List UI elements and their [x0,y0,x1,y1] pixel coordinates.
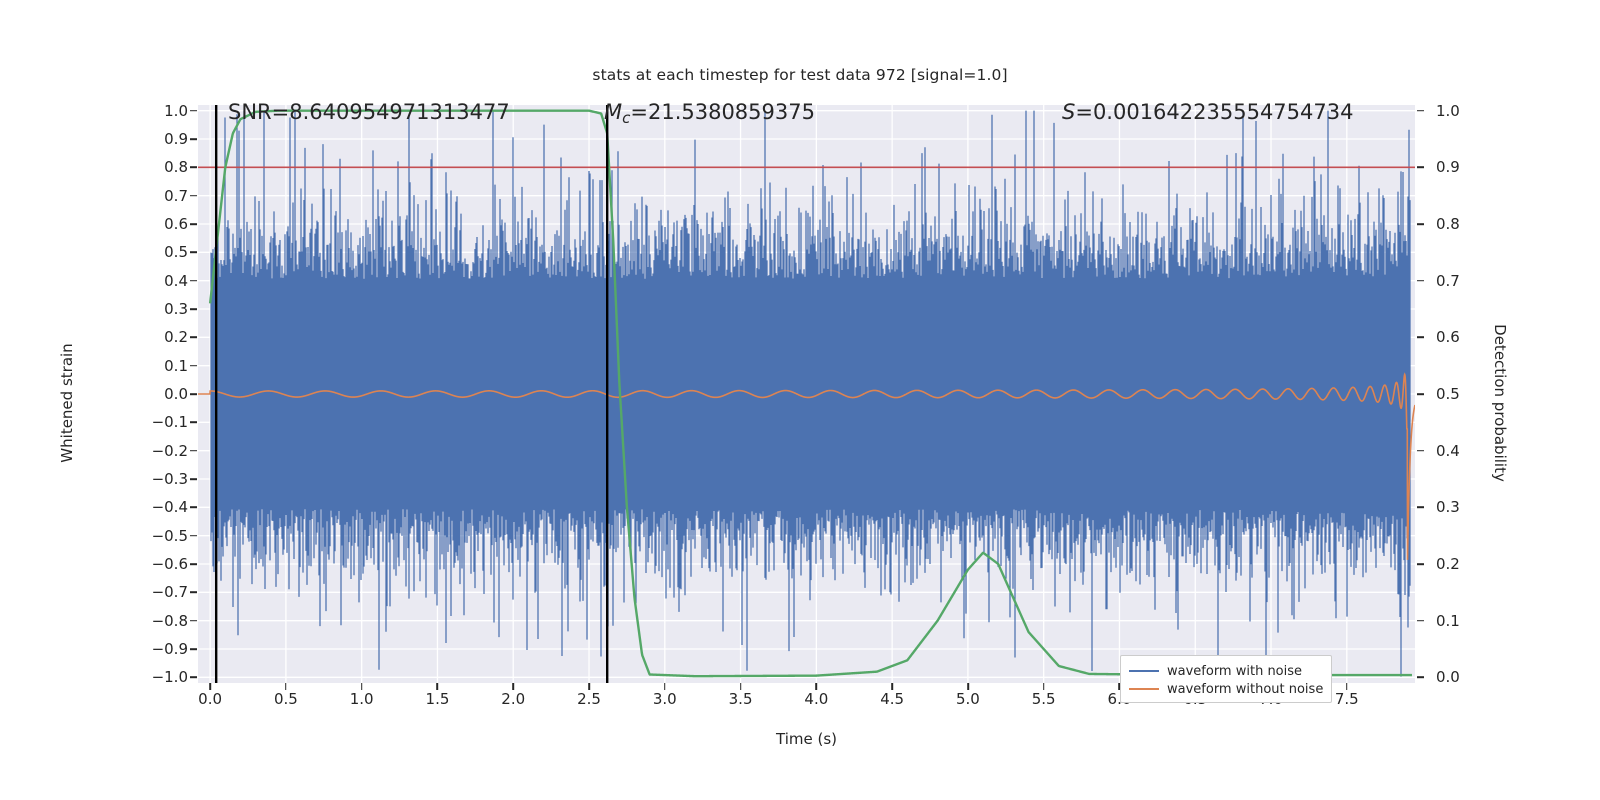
x-tick-mark [361,683,363,690]
legend-swatch-with-noise [1129,670,1159,672]
figure-canvas: stats at each timestep for test data 972… [0,0,1600,800]
legend-label-without-noise: waveform without noise [1167,682,1323,697]
x-tick-mark [512,683,514,690]
x-tick-label: 4.5 [880,690,904,708]
x-tick-label: 1.5 [426,690,450,708]
y-axis-left-label: Whitened strain [58,273,76,533]
x-tick-label: 3.5 [729,690,753,708]
x-tick-mark [209,683,211,690]
x-tick-label: 3.0 [653,690,677,708]
x-tick-label: 4.0 [804,690,828,708]
x-tick-label: 2.0 [501,690,525,708]
y-axis-right-label: Detection probability [1491,273,1509,533]
x-axis-ticks: 0.00.51.01.52.02.53.03.54.04.55.05.56.06… [0,0,1600,800]
x-tick-mark [967,683,969,690]
legend-swatch-without-noise [1129,688,1159,690]
x-tick-label: 0.5 [274,690,298,708]
legend-item-without-noise: waveform without noise [1129,680,1321,698]
legend: waveform with noise waveform without noi… [1120,655,1332,703]
x-tick-label: 2.5 [577,690,601,708]
x-tick-mark [588,683,590,690]
x-tick-mark [285,683,287,690]
x-axis-label: Time (s) [198,730,1415,748]
x-tick-mark [664,683,666,690]
legend-label-with-noise: waveform with noise [1167,664,1302,679]
x-tick-mark [1043,683,1045,690]
x-tick-mark [891,683,893,690]
x-tick-label: 5.5 [1032,690,1056,708]
x-tick-label: 0.0 [198,690,222,708]
x-tick-label: 5.0 [956,690,980,708]
x-tick-mark [740,683,742,690]
x-tick-mark [1346,683,1348,690]
x-tick-mark [437,683,439,690]
x-tick-label: 1.0 [350,690,374,708]
legend-item-with-noise: waveform with noise [1129,662,1321,680]
x-tick-label: 7.5 [1335,690,1359,708]
x-tick-mark [816,683,818,690]
